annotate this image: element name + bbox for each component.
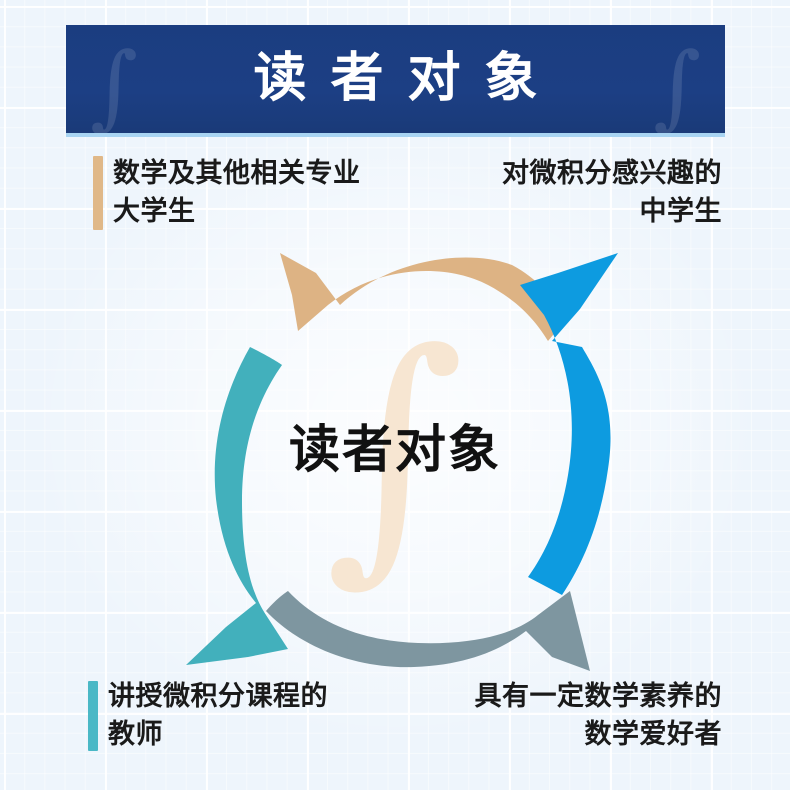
label-bottom-left-line2: 教师 — [108, 716, 438, 754]
label-top-right-line1: 对微积分感兴趣的 — [502, 158, 722, 189]
slate-arrow-down-right-icon — [266, 591, 590, 671]
reader-audience-infographic: ∫ ∫ 读者对象 数学及其他相关专业 大学生 对微积分感兴趣的 中学生 讲授微积… — [0, 0, 790, 790]
label-bottom-right-line2: 数学爱好者 — [412, 716, 722, 754]
label-top-left: 数学及其他相关专业 大学生 — [113, 155, 443, 232]
tan-arrow-up-left-icon — [280, 253, 568, 341]
center-title: 读者对象 — [0, 425, 790, 476]
label-top-right: 对微积分感兴趣的 中学生 — [422, 155, 722, 232]
page-title: 读者对象 — [66, 51, 725, 104]
label-bottom-left-line1: 讲授微积分课程的 — [108, 681, 328, 712]
accent-bar-top-left — [93, 156, 103, 230]
label-bottom-right-line1: 具有一定数学素养的 — [475, 681, 723, 712]
accent-bar-bottom-left — [88, 681, 98, 751]
label-bottom-left: 讲授微积分课程的 教师 — [108, 678, 438, 755]
label-top-left-line1: 数学及其他相关专业 — [113, 158, 361, 189]
header-banner: ∫ ∫ 读者对象 — [66, 25, 725, 133]
label-top-left-line2: 大学生 — [113, 193, 443, 231]
label-bottom-right: 具有一定数学素养的 数学爱好者 — [412, 678, 722, 755]
label-top-right-line2: 中学生 — [422, 193, 722, 231]
